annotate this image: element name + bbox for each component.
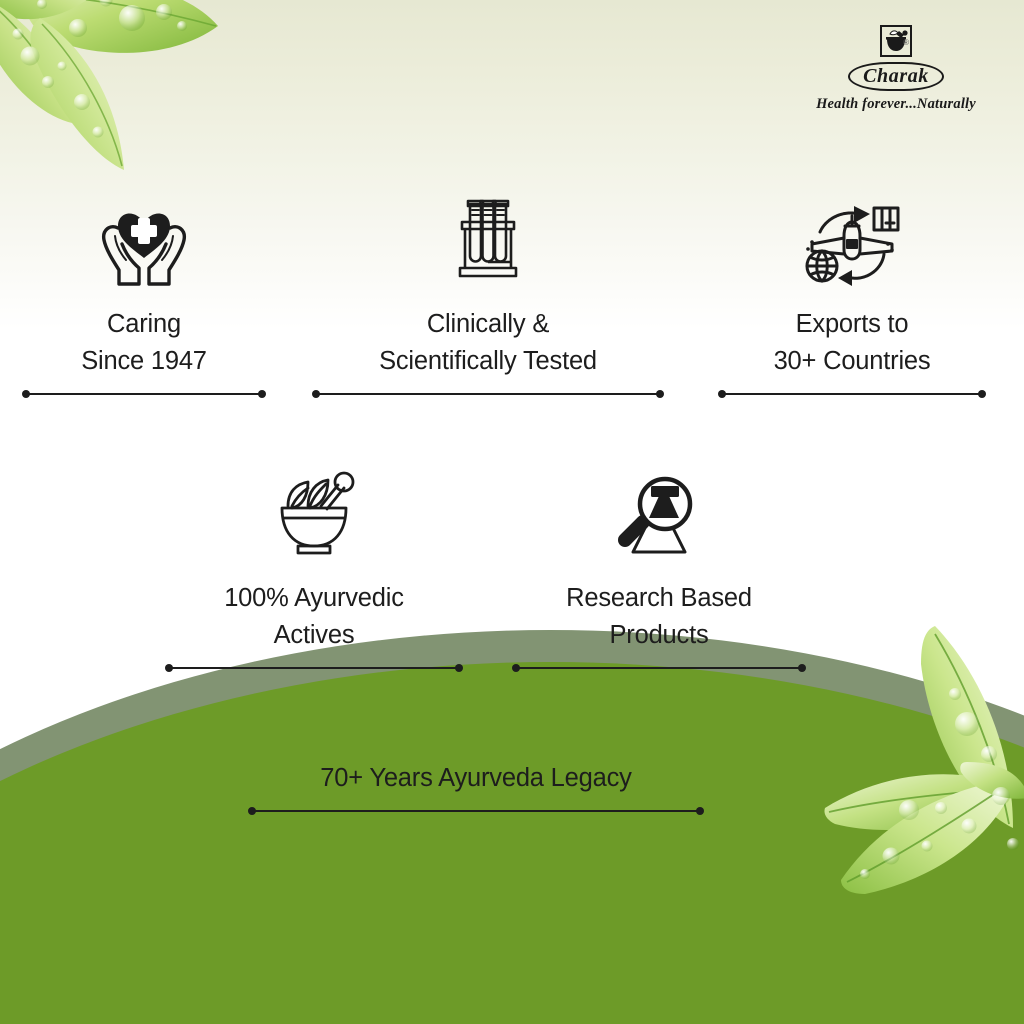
badge-exports: Exports to 30+ Countries [718,192,986,399]
badge-ayurvedic: 100% Ayurvedic Actives [165,466,463,673]
badge-caption: Caring Since 1947 [22,306,266,380]
underline-dot-right [696,807,704,815]
underline-bar [722,393,982,395]
badge-research: Research Based Products [512,466,806,673]
badge-caption: 100% Ayurvedic Actives [165,580,463,654]
badge-legacy: 70+ Years Ayurveda Legacy [248,760,704,816]
hands-holding-heart-icon [22,192,266,292]
test-tube-rack-icon [312,192,664,292]
badge-caption: Exports to 30+ Countries [718,306,986,380]
underline-bar [316,393,660,395]
brand-name: Charak [848,62,944,91]
legacy-caption: 70+ Years Ayurveda Legacy [248,760,704,797]
mortar-pestle-logo-icon: ® [877,24,915,60]
airplane-globe-package-icon [718,192,986,292]
legacy-underline [248,806,704,816]
badge-tested: Clinically & Scientifically Tested [312,192,664,399]
brand-tagline: Health forever...Naturally [796,96,996,113]
badge-underline [22,389,266,399]
underline-bar [169,667,459,669]
badge-underline [312,389,664,399]
brand-name-wrap: Charak [796,62,996,91]
magnifier-flask-icon [512,466,806,566]
registered-trademark-symbol: ® [903,38,909,47]
badge-underline [165,663,463,673]
badge-underline [512,663,806,673]
badge-caring: Caring Since 1947 [22,192,266,399]
brand-logo[interactable]: ® Charak Health forever...Naturally [796,24,996,113]
underline-bar [252,810,700,812]
underline-dot-right [798,664,806,672]
mortar-pestle-leaves-icon [165,466,463,566]
underline-dot-right [258,390,266,398]
promo-poster: ® Charak Health forever...Naturally Car [0,0,1024,1024]
badge-caption: Clinically & Scientifically Tested [312,306,664,380]
trust-badge-grid: Caring Since 1947 [0,0,1024,1024]
underline-bar [26,393,262,395]
underline-dot-right [978,390,986,398]
badge-underline [718,389,986,399]
underline-dot-right [455,664,463,672]
badge-caption: Research Based Products [512,580,806,654]
underline-dot-right [656,390,664,398]
underline-bar [516,667,802,669]
